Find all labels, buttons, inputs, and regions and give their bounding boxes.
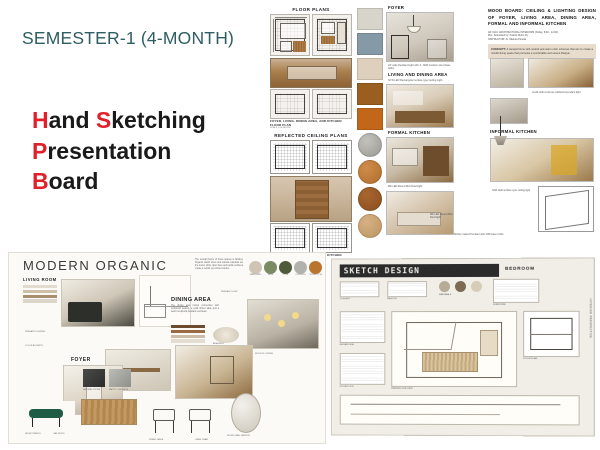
mood-board-concept: CONCEPT: A tranquil home with neutral an… — [488, 44, 596, 58]
mood-meta-line-3: INSTRUCTOR: Ar. Marinia Pineda — [488, 38, 596, 42]
palette-item-1: SAGE — [264, 261, 277, 276]
formal-kitchen-render — [386, 137, 454, 183]
modern-organic-palette: WARM SAND SAGE OLIVE CONCRETE TERRACOTTA — [249, 261, 322, 276]
velvet-bench-caption: VELVET BENCH — [25, 433, 41, 436]
mood-board-meta: AR 3101: ARCHITECTURAL INTERIORS (Friday… — [488, 31, 596, 42]
sketch-swatch-circle-2 — [455, 281, 466, 292]
modern-organic-label-foyer: FOYER — [71, 357, 91, 363]
floor-plan-secondary — [312, 14, 352, 56]
sketch-panel-furniture — [493, 279, 539, 303]
heading-line-3: Board — [32, 166, 206, 197]
sketch-caption-elevation-a: ELEVATION A — [340, 344, 354, 346]
title-panel: SEMESTER-1 (4-MONTH) Hand Sketching Pres… — [0, 0, 268, 248]
pendant-lamp-icon-1 — [500, 116, 501, 138]
section-label-living-dining: LIVING AND DINING AREA — [386, 71, 454, 78]
floor-plan-row-second — [268, 89, 354, 119]
pendant-lighting-caption: PENDANT LIGHTING — [25, 331, 45, 334]
floor-plans-column: FLOOR PLANS — [268, 4, 354, 252]
concrete-caption: MATTE CONCRETE — [109, 389, 133, 392]
swatch-square-1 — [357, 8, 383, 30]
dining-material-bars — [171, 325, 205, 344]
stone-caption: NATURAL STONE — [83, 389, 107, 392]
swatch-square-4 — [357, 83, 383, 105]
section-label-foyer: FOYER — [386, 4, 454, 11]
oak-wood-caption: OAK WOOD — [53, 433, 65, 436]
dining-pendant-photo — [247, 299, 319, 349]
dining-area-text: The dining area invites connection with … — [171, 305, 219, 314]
rcp-plan-c — [270, 223, 310, 253]
sketch-swatch-circle-3 — [471, 281, 482, 292]
rcp-row-top — [268, 140, 354, 174]
sketch-caption-palette: PALETTE — [387, 298, 396, 300]
section-label-informal-kitchen: INFORMAL KITCHEN — [488, 128, 539, 135]
mood-board-title: MOOD BOARD: CEILING & LIGHTING DESIGN OF… — [488, 8, 596, 28]
informal-kitchen-render — [490, 138, 594, 182]
modern-organic-intro-text: The overall theme of these spaces is Mod… — [195, 259, 243, 271]
living-dining-light-note: 32 W LED Rectangular surface type Ceilin… — [386, 78, 454, 83]
sketch-panel-perspective — [391, 311, 517, 387]
living-dining-render — [386, 84, 454, 128]
sketch-panel-concept — [340, 281, 380, 297]
sketch-room-label: BEDROOM — [505, 266, 535, 271]
heading-line-2: Presentation — [32, 136, 206, 167]
palette-item-3: CONCRETE — [294, 261, 307, 276]
modern-organic-label-living-room: LIVING ROOM — [23, 277, 57, 282]
informal-kitchen-photo — [528, 58, 594, 88]
pendant-annotation-1: 8W LED Round Mini Downlight — [428, 212, 466, 220]
sketch-design-title: SKETCH DESIGN — [344, 266, 420, 275]
stone-swatch — [83, 369, 105, 387]
rcp-row-bottom — [268, 223, 354, 253]
foyer-light-note: 24" wide Pendant Light with 3 - 60W medi… — [386, 63, 454, 71]
area-rug-caption: AREA RUG — [213, 343, 224, 346]
oak-wood-photo — [81, 399, 137, 425]
color-swatch-strip — [354, 6, 386, 252]
floor-plan-caption-1: FOYER, LIVING, DINING AREA, AND KITCHEN … — [268, 119, 354, 127]
sketch-panel-bottom-strip — [340, 395, 580, 426]
section-label-formal-kitchen: FORMAL KITCHEN — [386, 129, 454, 136]
palette-item-0: WARM SAND — [249, 261, 262, 276]
sketch-panel-floor-plan — [523, 311, 579, 357]
sketch-design-banner: SKETCH DESIGN — [340, 264, 499, 278]
palette-item-4: TERRACOTTA — [309, 261, 322, 276]
sketch-design-board: SKETCH DESIGN BEDROOM CONCEPT PALETTE MA… — [331, 257, 595, 436]
swatch-square-2 — [357, 33, 383, 55]
foyer-render — [386, 12, 454, 62]
concrete-pendant-photo — [490, 98, 528, 124]
pendant-light-caption: PENDANT LIGHT — [221, 291, 238, 294]
floor-plan-detail-a — [270, 89, 310, 119]
wood-flooring-caption: WOOD FLOORING — [255, 353, 273, 356]
sketch-panel-elevation-a — [340, 311, 386, 343]
interior-perspective-photo — [175, 345, 253, 399]
sketch-caption-perspective: PERSPECTIVE VIEW — [391, 388, 412, 390]
floor-plan-detail-b — [312, 89, 352, 119]
semester-label: SEMESTER-1 (4-MONTH) — [22, 28, 234, 49]
sketch-side-label: INTERIOR PERSPECTIVE — [589, 299, 592, 339]
pendant-light-photo-a — [490, 58, 524, 88]
sketch-swatch-circle-1 — [439, 281, 450, 292]
mirror-caption: ROUND WALL MIRROR — [227, 435, 267, 438]
swatch-circle-3 — [358, 187, 382, 211]
formal-kitchen-light-note: 8W LED Round Mini Downlight — [386, 184, 454, 189]
pendant-annotation-2: Kitchen Island Pendant with 40W base bul… — [452, 232, 508, 237]
reflected-ceiling-header: REFLECTED CEILING PLANS — [268, 130, 354, 140]
door-elevation-photo — [270, 176, 352, 222]
pendant-annotation-3: Gu10 LED concrete craftwood pendant ligh… — [530, 90, 594, 95]
floor-plan-main — [270, 14, 310, 56]
round-wall-mirror — [231, 393, 261, 433]
sketch-caption-floor-plan: FLOOR PLAN — [523, 358, 537, 360]
modern-organic-label-dining-area: DINING AREA — [171, 297, 211, 303]
far-right-imagery-column: Gu10 LED concrete craftwood pendant ligh… — [488, 58, 598, 254]
pendant-annotation-4: 32W LED surface type ceiling light — [490, 188, 544, 193]
sketch-caption-furniture: FURNITURE — [493, 304, 506, 306]
heading-line-1: Hand Sketching — [32, 105, 206, 136]
area-rug-photo — [213, 327, 239, 343]
velvet-bench-photo — [19, 401, 75, 433]
swatch-square-3 — [357, 58, 383, 80]
sketch-caption-materials: MATERIALS — [439, 294, 451, 296]
concept-label: CONCEPT: — [491, 47, 506, 51]
wood-flooring-photo — [270, 58, 352, 88]
sketch-caption-concept: CONCEPT — [340, 298, 351, 300]
swatch-circle-4 — [358, 214, 382, 238]
linen-chair-caption: LINEN CHAIR — [195, 439, 208, 442]
rcp-plan-a — [270, 140, 310, 174]
concrete-swatch — [109, 369, 131, 387]
swatch-square-5 — [357, 108, 383, 130]
swatch-circle-2 — [358, 160, 382, 184]
living-room-material-bars — [23, 285, 57, 304]
sketch-panel-palette — [387, 281, 427, 297]
modern-organic-title: MODERN ORGANIC — [23, 258, 167, 273]
concept-text: A tranquil home with neutral and warm co… — [491, 48, 593, 55]
rcp-plan-b — [312, 140, 352, 174]
board-heading: Hand Sketching Presentation Board — [32, 105, 206, 197]
color-accents-caption: COLOR ACCENTS — [25, 345, 43, 348]
swatch-circle-1 — [358, 133, 382, 157]
rcp-plan-d — [312, 223, 352, 253]
mood-board-panel: MOOD BOARD: CEILING & LIGHTING DESIGN OF… — [488, 8, 596, 59]
presentation-board-image: SEMESTER-1 (4-MONTH) Hand Sketching Pres… — [0, 0, 600, 450]
palette-item-2: OLIVE — [279, 261, 292, 276]
living-room-photo — [61, 279, 135, 327]
floor-plans-header: FLOOR PLANS — [268, 4, 354, 14]
sketch-caption-elevation-b: ELEVATION B — [340, 386, 354, 388]
floor-plan-row-top — [268, 14, 354, 56]
ceiling-light-diagram — [538, 186, 594, 232]
dining-table-caption: DINING TABLE — [149, 439, 163, 442]
modern-organic-board: MODERN ORGANIC LIVING ROOM The overall t… — [8, 252, 326, 444]
dining-chairs-sketch — [145, 403, 221, 439]
sketch-panel-elevation-b — [340, 353, 386, 385]
